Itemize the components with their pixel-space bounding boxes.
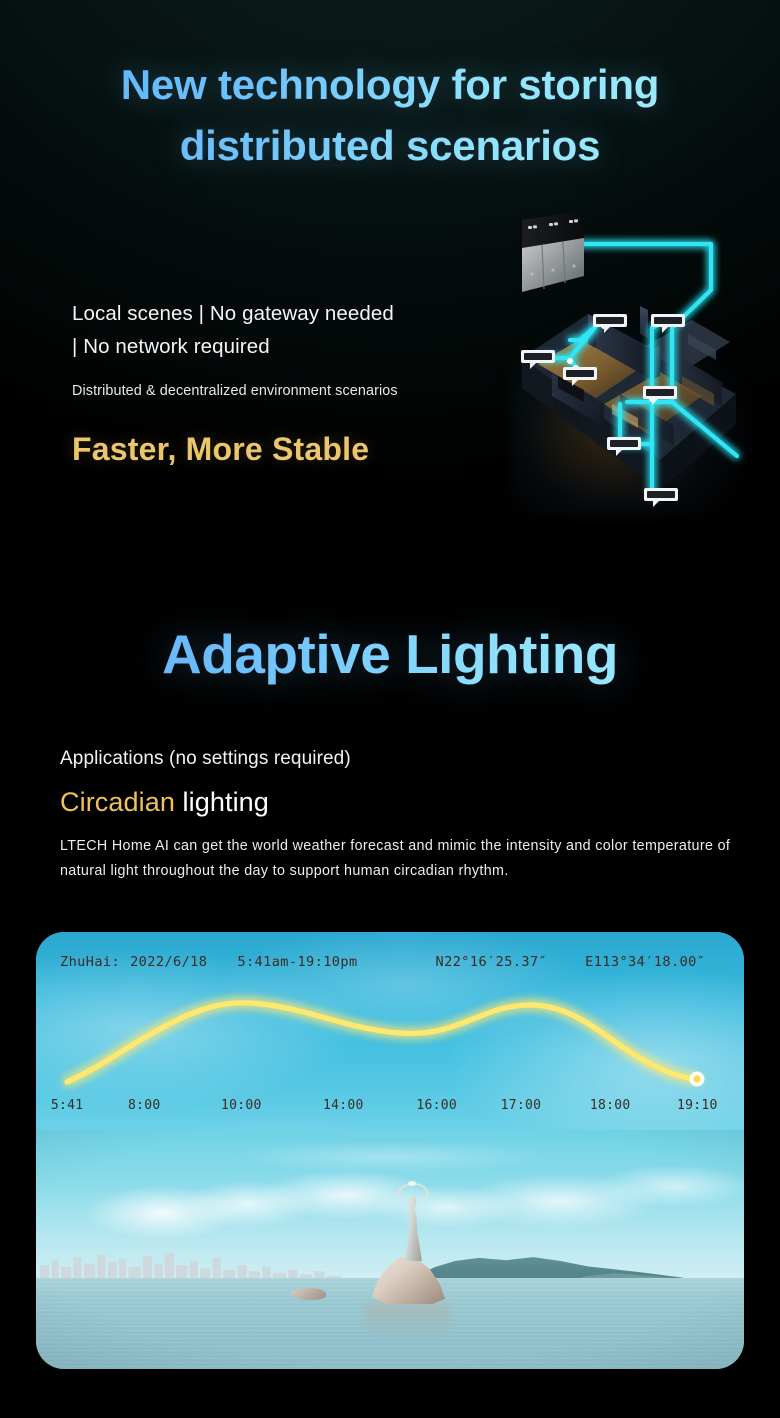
feature-highlight: Faster, More Stable <box>72 431 502 468</box>
circadian-highlight: Circadian <box>60 787 175 817</box>
circadian-description: LTECH Home AI can get the world weather … <box>60 834 750 883</box>
card-date: 2022/6/18 <box>130 954 207 970</box>
applications-label: Applications (no settings required) <box>60 748 750 770</box>
device-tag <box>644 488 678 507</box>
tick-label: 16:00 <box>416 1098 457 1113</box>
circadian-daylight-card: ZhuHai: 2022/6/18 5:41am-19:10pm N22°16′… <box>36 932 744 1369</box>
feature-subtitle: Distributed & decentralized environment … <box>72 383 502 399</box>
card-location: ZhuHai: <box>60 954 120 970</box>
wall-switch-panel <box>520 212 584 292</box>
section-heading-adaptive-lighting: Adaptive Lighting <box>0 622 780 686</box>
circadian-lighting-title: Circadian lighting <box>60 787 750 818</box>
tick-label: 18:00 <box>590 1098 631 1113</box>
tick-label: 10:00 <box>221 1098 262 1113</box>
tick-label: 19:10 <box>677 1098 718 1113</box>
3d-floorplan-network-illustration <box>492 198 780 523</box>
tick-label: 17:00 <box>501 1098 542 1113</box>
tick-label: 8:00 <box>128 1098 161 1113</box>
floorplan-svg <box>492 198 780 523</box>
card-metadata-row: ZhuHai: 2022/6/18 5:41am-19:10pm N22°16′… <box>36 950 744 974</box>
photo-vignette <box>36 1130 744 1369</box>
tick-label: 14:00 <box>323 1098 364 1113</box>
circadian-rest: lighting <box>175 787 269 817</box>
feature-lead-line-1: Local scenes | No gateway needed <box>72 297 502 330</box>
zhuhai-fisher-girl-statue-seascape <box>36 1130 744 1369</box>
page-title: New technology for storing distributed s… <box>0 54 780 177</box>
tick-label: 5:41 <box>51 1098 84 1113</box>
page-title-line-2: distributed scenarios <box>0 115 780 176</box>
card-time-range: 5:41am-19:10pm <box>237 954 357 970</box>
daylight-intensity-curve <box>36 978 744 1093</box>
feature-lead: Local scenes | No gateway needed | No ne… <box>72 297 502 363</box>
card-longitude: E113°34′18.00″ <box>585 954 705 970</box>
card-latitude: N22°16′25.37″ <box>436 954 548 970</box>
feature-copy-block: Local scenes | No gateway needed | No ne… <box>72 297 502 468</box>
curve-end-marker <box>690 1072 705 1087</box>
feature-lead-line-2: | No network required <box>72 330 502 363</box>
timeline-tick-labels: 5:41 8:00 10:00 14:00 16:00 17:00 18:00 … <box>36 1098 744 1118</box>
adaptive-lighting-copy: Applications (no settings required) Circ… <box>60 748 750 883</box>
page-title-line-1: New technology for storing <box>0 54 780 115</box>
